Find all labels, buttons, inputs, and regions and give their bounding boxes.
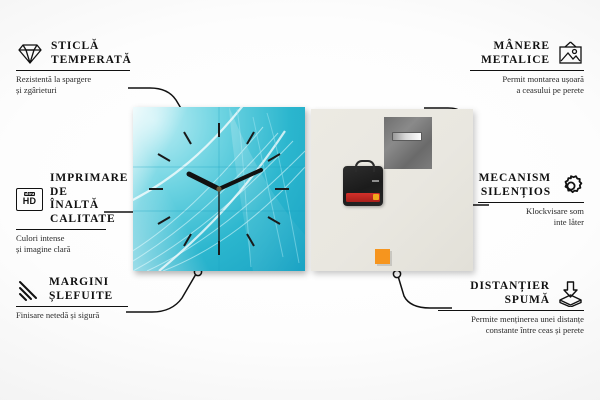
clock-dial	[133, 107, 305, 271]
feature-polished-edges: MARGINI ȘLEFUITE Finisare netedă și sigu…	[16, 276, 128, 321]
feature-desc: Culori intense și imagine clară	[16, 233, 106, 254]
feature-tempered-glass: STICLĂ TEMPERATĂ Rezistentă la spargere …	[16, 40, 130, 96]
feature-desc: Rezistentă la spargere și zgârieturi	[16, 74, 130, 95]
hanging-loop	[355, 160, 375, 172]
wire-polished-edges	[126, 274, 196, 312]
feature-title: DISTANȚIER SPUMĂ	[470, 280, 550, 307]
aa-battery	[346, 193, 380, 202]
beveled-edge-icon	[16, 279, 42, 301]
battery-terminal	[373, 194, 379, 200]
product-image	[133, 107, 473, 273]
quartz-movement	[343, 166, 383, 206]
orange-foam-spacer	[375, 249, 390, 264]
wall-clock-front	[133, 107, 305, 271]
gear-icon	[558, 173, 584, 199]
minute-hand	[219, 170, 261, 189]
feature-rule	[16, 70, 130, 71]
ultra-hd-icon: ultra HD	[16, 188, 43, 211]
clock-back-panel	[311, 109, 473, 271]
feature-rule	[470, 70, 584, 71]
clock-face	[133, 107, 305, 271]
feature-rule	[478, 202, 584, 203]
feature-foam-spacer: DISTANȚIER SPUMĂ Permite menținerea unei…	[438, 280, 584, 336]
feature-rule	[16, 306, 128, 307]
feature-rule	[438, 310, 584, 311]
ultra-hd-hd-label: HD	[23, 197, 37, 206]
feature-silent-mechanism: MECANISM SILENȚIOS Klockvisare som inte …	[478, 172, 584, 228]
feature-desc: Klockvisare som inte låter	[478, 206, 584, 227]
diamond-icon	[16, 42, 44, 65]
feature-desc: Finisare netedă și sigură	[16, 310, 128, 321]
feature-rule	[16, 229, 106, 230]
metal-hanger-plate	[384, 117, 432, 169]
feature-title: IMPRIMARE DE ÎNALTĂ CALITATE	[50, 172, 128, 226]
feature-desc: Permit montarea ușoară a ceasului pe per…	[470, 74, 584, 95]
movement-label	[372, 180, 379, 182]
press-down-pad-icon	[557, 281, 584, 307]
picture-frame-hanger-icon	[557, 41, 584, 66]
feature-title: MARGINI ȘLEFUITE	[49, 276, 113, 303]
infographic-canvas: STICLĂ TEMPERATĂ Rezistentă la spargere …	[0, 0, 600, 400]
feature-title: STICLĂ TEMPERATĂ	[51, 40, 132, 67]
feature-desc: Permite menținerea unei distanțe constan…	[438, 314, 584, 335]
hanger-slot	[392, 132, 422, 141]
feature-title: MECANISM SILENȚIOS	[479, 172, 551, 199]
clock-center-cap	[216, 186, 221, 191]
feature-metal-handles: MÂNERE METALICE Permit montarea ușoară a…	[470, 40, 584, 96]
hour-hand	[189, 174, 219, 189]
feature-high-quality-print: ultra HD IMPRIMARE DE ÎNALTĂ CALITATE Cu…	[16, 172, 106, 255]
feature-title: MÂNERE METALICE	[481, 40, 550, 67]
